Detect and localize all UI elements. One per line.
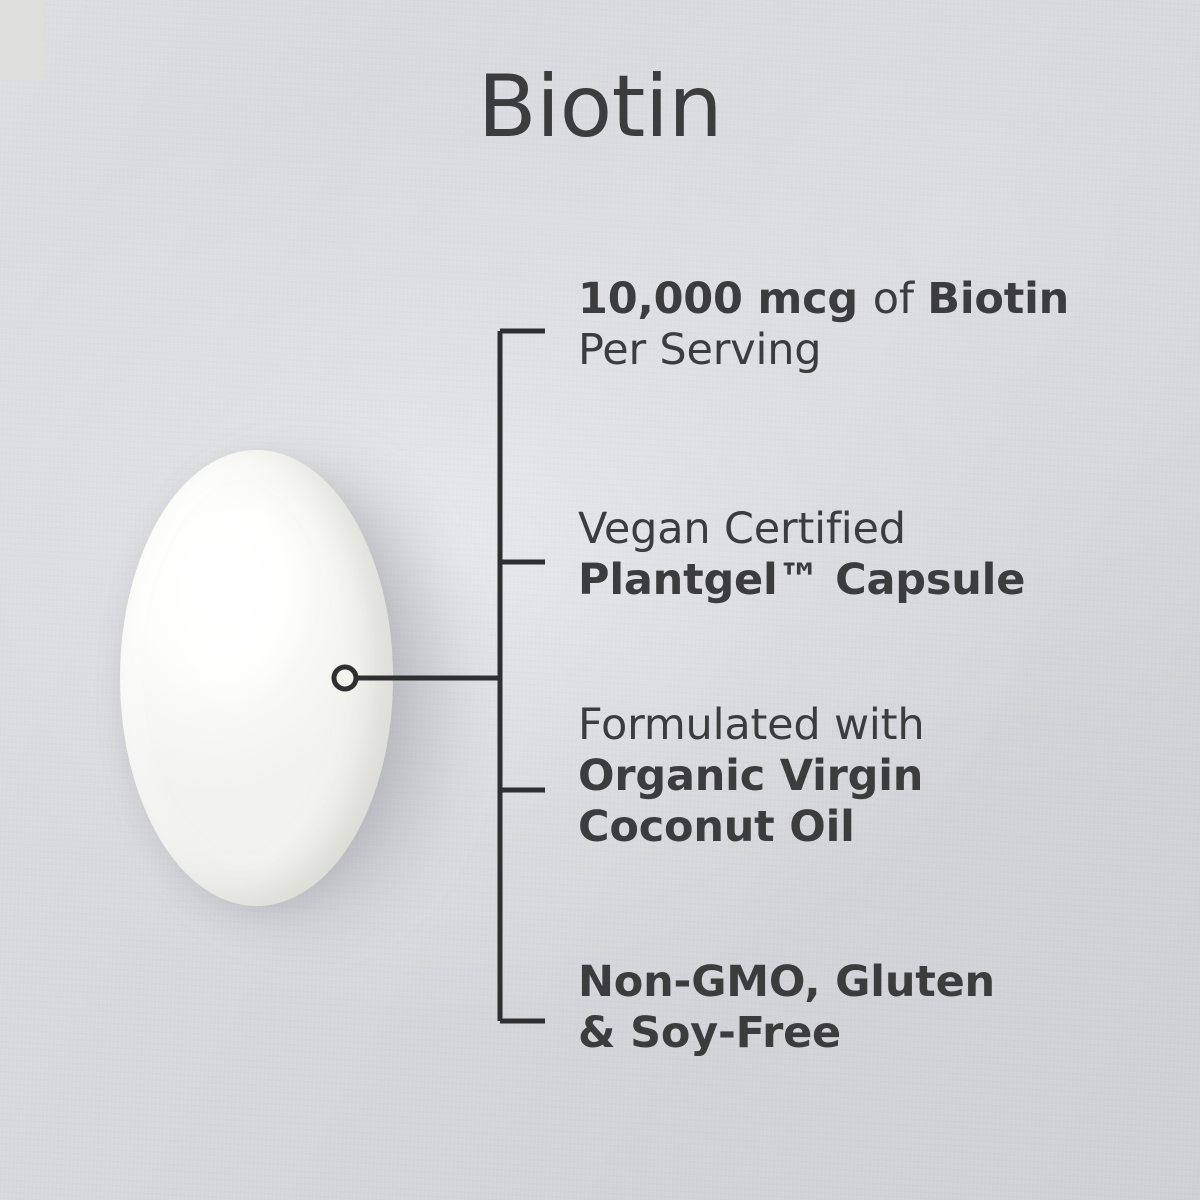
feature-line: Vegan Certified xyxy=(578,504,1138,555)
feature-text-plain: of xyxy=(873,274,928,324)
feature-text-plain: Vegan Certified xyxy=(578,504,906,554)
feature-line: Coconut Oil xyxy=(578,802,1138,853)
feature-line: Organic Virgin xyxy=(578,751,1138,802)
feature-text-free-from: Non-GMO, Gluten& Soy-Free xyxy=(578,957,1138,1059)
feature-text-emphasis: & Soy-Free xyxy=(578,1008,841,1058)
feature-line: & Soy-Free xyxy=(578,1008,1138,1059)
feature-line: 10,000 mcg of Biotin xyxy=(578,274,1138,325)
feature-line: Non-GMO, Gluten xyxy=(578,957,1138,1008)
feature-line: Formulated with xyxy=(578,700,1138,751)
feature-text-dosage: 10,000 mcg of BiotinPer Serving xyxy=(578,274,1138,376)
feature-line: Per Serving xyxy=(578,325,1138,376)
feature-text-emphasis: Plantgel™ Capsule xyxy=(578,555,1025,605)
feature-text-emphasis: Coconut Oil xyxy=(578,802,855,852)
feature-text-plain: Per Serving xyxy=(578,325,821,375)
circle-marker-icon xyxy=(334,667,356,689)
feature-text-emphasis: Organic Virgin xyxy=(578,751,923,801)
feature-text-emphasis: 10,000 mcg xyxy=(578,274,873,324)
infographic-canvas: Biotin 10,000 mcg of BiotinPer Serving V… xyxy=(0,0,1200,1200)
feature-text-emphasis: Biotin xyxy=(927,274,1069,324)
feature-text-emphasis: Non-GMO, Gluten xyxy=(578,957,995,1007)
feature-line: Plantgel™ Capsule xyxy=(578,555,1138,606)
feature-text-coconut-oil: Formulated withOrganic VirginCoconut Oil xyxy=(578,700,1138,853)
feature-text-vegan-capsule: Vegan CertifiedPlantgel™ Capsule xyxy=(578,504,1138,606)
feature-text-plain: Formulated with xyxy=(578,700,924,750)
